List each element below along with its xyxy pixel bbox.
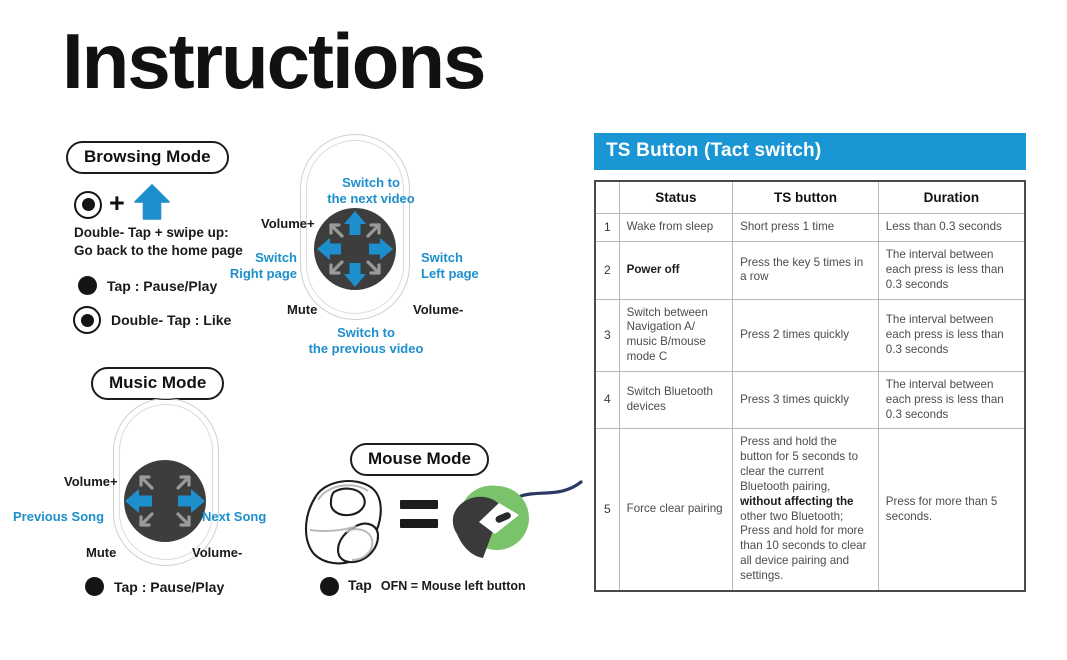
music-horizontal-blue-arrows <box>125 489 205 513</box>
double-tap-target-icon <box>74 191 102 219</box>
row-ts-button: Press and hold the button for 5 seconds … <box>733 429 879 591</box>
music-label-volume-up: Volume+ <box>64 474 118 490</box>
row-index: 4 <box>595 371 619 428</box>
table-header-row: Status TS button Duration <box>595 181 1025 214</box>
row-status: Power off <box>619 242 733 299</box>
ts-button-panel: TS Button (Tact switch) Status TS button… <box>594 133 1026 592</box>
browsing-ring-diagram <box>300 134 412 322</box>
table-row: 4 Switch Bluetooth devices Press 3 times… <box>595 371 1025 428</box>
ts-panel-header: TS Button (Tact switch) <box>594 133 1026 170</box>
previous-video-line-2: the previous video <box>300 341 432 357</box>
browsing-label-volume-down: Volume- <box>413 302 463 318</box>
browsing-label-right-page: Switch Right page <box>229 250 297 281</box>
row-index: 5 <box>595 429 619 591</box>
row-duration: The interval between each press is less … <box>878 371 1025 428</box>
browsing-legend-tap: Tap : Pause/Play <box>78 276 217 295</box>
browsing-mode-badge: Browsing Mode <box>66 141 229 174</box>
left-page-line-1: Switch <box>421 250 479 266</box>
table-row: 5 Force clear pairing Press and hold the… <box>595 429 1025 591</box>
mouse-legend-detail: OFN = Mouse left button <box>381 579 526 593</box>
left-page-line-2: Left page <box>421 266 479 282</box>
ts-button-table: Status TS button Duration 1 Wake from sl… <box>594 180 1026 592</box>
music-legend-tap: Tap : Pause/Play <box>85 577 224 596</box>
row-ts-button-emphasis: without affecting the <box>740 495 853 508</box>
music-label-next-song: Next Song <box>202 509 266 525</box>
cardinal-blue-arrows <box>317 211 393 287</box>
next-video-line-2: the next video <box>316 191 426 207</box>
combo-caption-line-1: Double- Tap + swipe up: <box>74 224 243 242</box>
equals-symbol <box>400 500 438 528</box>
music-ring-direction-arrows <box>124 460 206 542</box>
browsing-combo-gesture: + <box>74 184 172 225</box>
column-header-duration: Duration <box>878 181 1025 214</box>
music-legend-tap-label: Tap : Pause/Play <box>114 579 224 595</box>
right-page-line-1: Switch <box>229 250 297 266</box>
equals-bar-bottom <box>400 519 438 528</box>
music-ring-diagram <box>113 398 221 568</box>
row-ts-button: Press the key 5 times in a row <box>733 242 879 299</box>
mouse-legend-tap: Tap OFN = Mouse left button <box>320 577 526 596</box>
instructions-page: Instructions Browsing Mode + Double- Tap… <box>0 0 1067 660</box>
browsing-label-left-page: Switch Left page <box>421 250 479 281</box>
browsing-label-volume-up: Volume+ <box>261 216 315 232</box>
row-ts-button: Press 3 times quickly <box>733 371 879 428</box>
swipe-up-arrow-icon <box>132 184 172 225</box>
browsing-label-previous-video: Switch to the previous video <box>300 325 432 356</box>
row-index: 1 <box>595 214 619 242</box>
browsing-label-mute: Mute <box>287 302 317 318</box>
tap-dot-icon <box>85 577 104 596</box>
row-status: Wake from sleep <box>619 214 733 242</box>
row-ts-button: Short press 1 time <box>733 214 879 242</box>
page-title: Instructions <box>62 22 484 100</box>
table-row: 1 Wake from sleep Short press 1 time Les… <box>595 214 1025 242</box>
combo-caption-line-2: Go back to the home page <box>74 242 243 260</box>
row-index: 2 <box>595 242 619 299</box>
music-mode-badge: Music Mode <box>91 367 224 400</box>
next-video-line-1: Switch to <box>316 175 426 191</box>
browsing-combo-caption: Double- Tap + swipe up: Go back to the h… <box>74 224 243 260</box>
tap-dot-icon <box>320 577 339 596</box>
browsing-legend-double-tap-label: Double- Tap : Like <box>111 312 231 328</box>
row-duration: The interval between each press is less … <box>878 242 1025 299</box>
row-duration: Press for more than 5 seconds. <box>878 429 1025 591</box>
browsing-legend-double-tap: Double- Tap : Like <box>73 306 231 334</box>
previous-video-line-1: Switch to <box>300 325 432 341</box>
row-status: Switch between Navigation A/ music B/mou… <box>619 299 733 371</box>
browsing-legend-tap-label: Tap : Pause/Play <box>107 278 217 294</box>
row-ts-button-part-1: Press and hold the button for 5 seconds … <box>740 435 858 492</box>
row-ts-button-part-2: other two Bluetooth; Press and hold for … <box>740 510 866 582</box>
double-tap-dot-icon <box>73 306 101 334</box>
music-label-mute: Mute <box>86 545 116 561</box>
mouse-legend-tap-label: Tap <box>348 577 372 593</box>
row-duration: The interval between each press is less … <box>878 299 1025 371</box>
smart-ring-icon <box>294 474 398 570</box>
ring-direction-arrows <box>314 208 396 290</box>
tap-dot-icon <box>78 276 97 295</box>
column-header-index <box>595 181 619 214</box>
equals-bar-top <box>400 500 438 509</box>
row-index: 3 <box>595 299 619 371</box>
music-label-volume-down: Volume- <box>192 545 242 561</box>
row-status: Switch Bluetooth devices <box>619 371 733 428</box>
row-status: Force clear pairing <box>619 429 733 591</box>
table-row: 2 Power off Press the key 5 times in a r… <box>595 242 1025 299</box>
table-row: 3 Switch between Navigation A/ music B/m… <box>595 299 1025 371</box>
computer-mouse-icon <box>435 472 587 568</box>
plus-symbol: + <box>109 190 125 217</box>
column-header-status: Status <box>619 181 733 214</box>
row-ts-button: Press 2 times quickly <box>733 299 879 371</box>
music-label-previous-song: Previous Song <box>13 509 104 525</box>
browsing-label-next-video: Switch to the next video <box>316 175 426 206</box>
column-header-ts-button: TS button <box>733 181 879 214</box>
right-page-line-2: Right page <box>229 266 297 282</box>
row-duration: Less than 0.3 seconds <box>878 214 1025 242</box>
